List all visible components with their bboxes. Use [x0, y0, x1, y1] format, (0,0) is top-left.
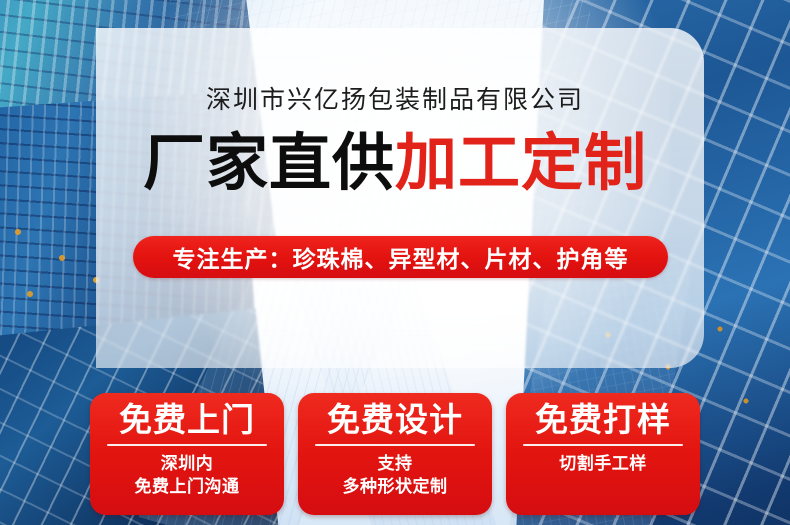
product-focus-pill: 专注生产：珍珠棉、异型材、片材、护角等 — [133, 236, 668, 278]
headline-black-part: 厂家直供 — [143, 129, 395, 198]
feature-card-subtitle: 深圳内 免费上门沟通 — [135, 453, 240, 499]
feature-card-subtitle: 切割手工样 — [559, 453, 647, 476]
feature-card-divider — [315, 444, 475, 446]
promo-banner: 深圳市兴亿扬包装制品有限公司 厂家直供加工定制 专注生产：珍珠棉、异型材、片材、… — [0, 0, 790, 525]
feature-card-list: 免费上门 深圳内 免费上门沟通 免费设计 支持 多种形状定制 免费打样 切割手工… — [0, 393, 790, 515]
feature-card-title: 免费打样 — [535, 402, 671, 438]
frosted-content-panel — [96, 28, 704, 368]
feature-card-subtitle: 支持 多种形状定制 — [343, 453, 448, 499]
feature-card[interactable]: 免费打样 切割手工样 — [506, 393, 700, 515]
feature-card-divider — [523, 444, 683, 446]
feature-card-title: 免费设计 — [327, 402, 463, 438]
feature-card-title: 免费上门 — [119, 402, 255, 438]
product-focus-text: 专注生产：珍珠棉、异型材、片材、护角等 — [173, 240, 629, 274]
feature-card-divider — [107, 444, 267, 446]
headline-red-part: 加工定制 — [395, 129, 647, 198]
feature-card[interactable]: 免费设计 支持 多种形状定制 — [298, 393, 492, 515]
headline: 厂家直供加工定制 — [0, 133, 790, 195]
company-name: 深圳市兴亿扬包装制品有限公司 — [0, 80, 790, 116]
feature-card[interactable]: 免费上门 深圳内 免费上门沟通 — [90, 393, 284, 515]
